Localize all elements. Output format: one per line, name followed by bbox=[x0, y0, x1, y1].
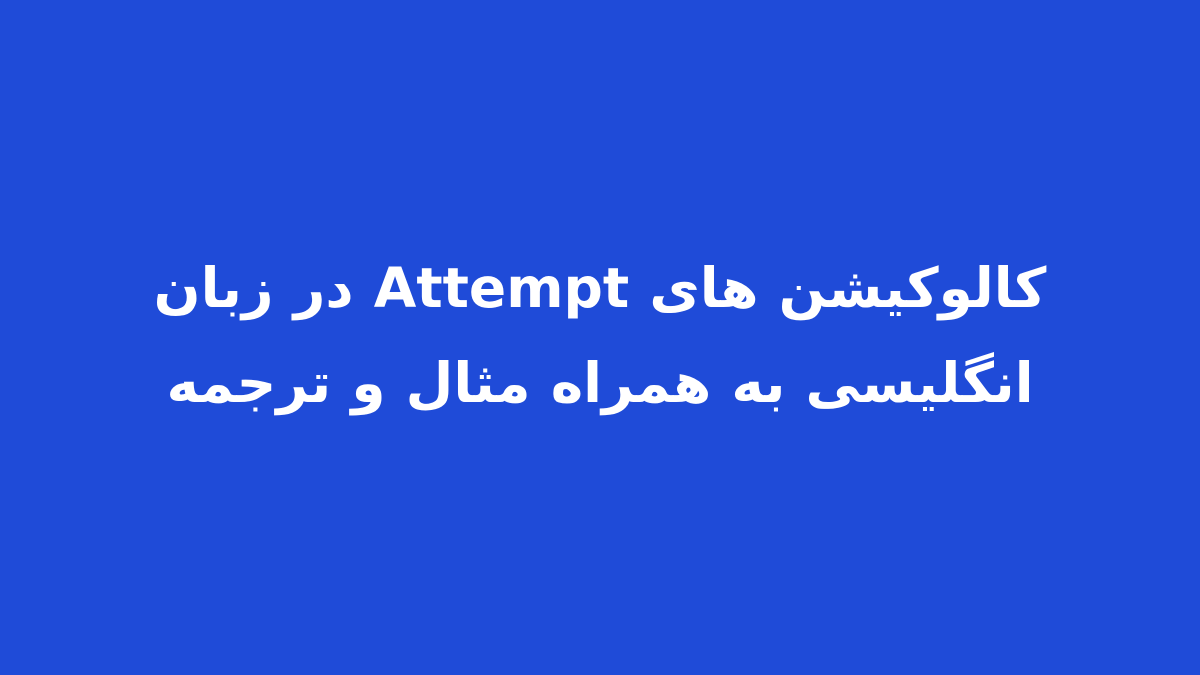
headline-text-before-keyword: کالوکیشن های bbox=[649, 256, 1046, 320]
page-title: کالوکیشن های Attempt در زبان انگلیسی به … bbox=[70, 241, 1130, 431]
title-card: کالوکیشن های Attempt در زبان انگلیسی به … bbox=[0, 0, 1200, 675]
headline-block: کالوکیشن های Attempt در زبان انگلیسی به … bbox=[70, 241, 1130, 431]
headline-keyword-attempt: Attempt bbox=[374, 241, 629, 336]
